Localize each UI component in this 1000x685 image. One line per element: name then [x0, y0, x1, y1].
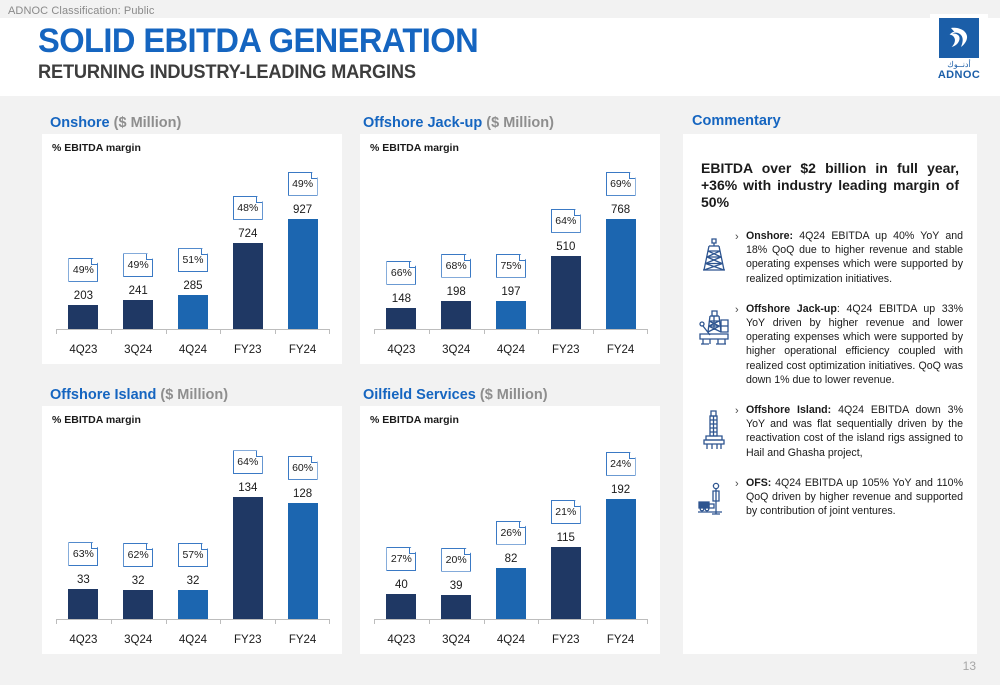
page-number: 13 [963, 659, 976, 673]
callout-fold-corner [311, 457, 317, 463]
ebitda-margin-callout: 49% [68, 258, 98, 282]
x-axis-label-FY23: FY23 [552, 344, 580, 356]
ebitda-margin-callout: 48% [233, 196, 263, 220]
bar-value-label: 128 [293, 488, 312, 500]
chart-column: 11521%FY23 [538, 432, 593, 620]
bar-4Q23[interactable] [386, 594, 416, 619]
adnoc-logo: أدنــوك ADNOC [930, 14, 988, 86]
chart-title-text: Oilfield Services [363, 387, 480, 403]
x-axis-tick [647, 620, 648, 624]
bar-3Q24[interactable] [123, 590, 153, 619]
chart-column: 3257%4Q24 [166, 432, 221, 620]
chart-title-text: Onshore [50, 115, 114, 131]
callout-fold-corner [519, 522, 525, 528]
ebitda-margin-axis-label: % EBITDA margin [52, 142, 141, 154]
x-axis-label-4Q23: 4Q23 [387, 634, 415, 646]
chart-column: 92749%FY24 [275, 160, 330, 330]
x-axis-tick [593, 330, 594, 334]
ebitda-margin-axis-label: % EBITDA margin [52, 414, 141, 426]
chart-column: 4027%4Q23 [374, 432, 429, 620]
x-axis-label-3Q24: 3Q24 [442, 344, 470, 356]
x-axis-tick [647, 330, 648, 334]
bar-4Q23[interactable] [386, 308, 416, 329]
commentary-item: ›Onshore: 4Q24 EBITDA up 40% YoY and 18%… [683, 229, 977, 286]
commentary-item-label: Offshore Island: [746, 404, 831, 416]
bullet-marker: › [735, 302, 744, 318]
ebitda-margin-callout: 60% [288, 456, 318, 480]
falcon-icon [939, 18, 979, 58]
callout-fold-corner [91, 543, 97, 549]
bar-3Q24[interactable] [441, 301, 471, 329]
callout-fold-corner [629, 453, 635, 459]
ebitda-margin-callout: 27% [386, 547, 416, 571]
commentary-item-label: Onshore: [746, 230, 793, 242]
ebitda-margin-callout: 21% [551, 500, 581, 524]
bullet-marker: › [735, 403, 744, 419]
callout-fold-corner [409, 262, 415, 268]
ebitda-margin-callout: 64% [233, 450, 263, 474]
commentary-item: ›Offshore Jack-up: 4Q24 EBITDA up 33% Yo… [683, 302, 977, 387]
x-axis-tick [484, 620, 485, 624]
bar-value-label: 203 [74, 290, 93, 302]
commentary-text: Offshore Island: 4Q24 EBITDA down 3% YoY… [744, 403, 963, 460]
x-axis-tick [166, 620, 167, 624]
classification-label: ADNOC Classification: Public [8, 5, 154, 17]
x-axis-tick [593, 620, 594, 624]
x-axis-tick [374, 330, 375, 334]
x-axis-tick [56, 330, 57, 334]
bar-FY24[interactable] [288, 219, 318, 329]
x-axis-label-FY24: FY24 [607, 344, 635, 356]
bar-3Q24[interactable] [441, 595, 471, 619]
ebitda-margin-callout: 24% [606, 452, 636, 476]
callout-fold-corner [464, 255, 470, 261]
callout-fold-corner [256, 451, 262, 457]
x-axis-tick [56, 620, 57, 624]
x-axis-tick [111, 620, 112, 624]
chart-panel-oilfield-services: % EBITDA margin4027%4Q233920%3Q248226%4Q… [360, 406, 660, 654]
bar-value-label: 192 [611, 484, 630, 496]
chart-title-unit: ($ Million) [480, 387, 548, 403]
commentary-list: ›Onshore: 4Q24 EBITDA up 40% YoY and 18%… [683, 229, 977, 518]
bar-value-label: 33 [77, 574, 90, 586]
ebitda-margin-callout: 49% [288, 172, 318, 196]
bar-value-label: 285 [183, 280, 202, 292]
x-axis-tick [374, 620, 375, 624]
bar-value-label: 768 [611, 204, 630, 216]
chart-panel-offshore-jackup: % EBITDA margin14866%4Q2319868%3Q2419775… [360, 134, 660, 364]
bar-value-label: 510 [556, 241, 575, 253]
chart-panel-onshore: % EBITDA margin20349%4Q2324149%3Q2428551… [42, 134, 342, 364]
ebitda-margin-callout: 64% [551, 209, 581, 233]
logo-arabic-text: أدنــوك [947, 60, 970, 69]
chart-column: 3363%4Q23 [56, 432, 111, 620]
plot-area: 4027%4Q233920%3Q248226%4Q2411521%FY23192… [374, 432, 648, 620]
chart-title-unit: ($ Million) [160, 387, 228, 403]
plot-area: 3363%4Q233262%3Q243257%4Q2413464%FY23128… [56, 432, 330, 620]
commentary-item: ›Offshore Island: 4Q24 EBITDA down 3% Yo… [683, 403, 977, 460]
bar-4Q24[interactable] [178, 590, 208, 619]
chart-panel-offshore-island: % EBITDA margin3363%4Q233262%3Q243257%4Q… [42, 406, 342, 654]
callout-fold-corner [574, 210, 580, 216]
chart-column: 13464%FY23 [220, 432, 275, 620]
workover-unit-icon [693, 476, 735, 516]
plot-area: 14866%4Q2319868%3Q2419775%4Q2451064%FY23… [374, 160, 648, 330]
x-axis-tick [538, 620, 539, 624]
slide-root: ADNOC Classification: Public SOLID EBITD… [0, 0, 1000, 685]
bar-4Q24[interactable] [496, 301, 526, 329]
x-axis-label-3Q24: 3Q24 [124, 634, 152, 646]
ebitda-margin-callout: 63% [68, 542, 98, 566]
page-title: SOLID EBITDA GENERATION [38, 22, 478, 60]
chart-column: 14866%4Q23 [374, 160, 429, 330]
x-axis-tick [484, 330, 485, 334]
commentary-text: Offshore Jack-up: 4Q24 EBITDA up 33% YoY… [744, 302, 963, 387]
callout-fold-corner [256, 197, 262, 203]
bar-value-label: 927 [293, 204, 312, 216]
island-rig-icon [693, 403, 735, 451]
callout-fold-corner [409, 548, 415, 554]
ebitda-margin-callout: 66% [386, 261, 416, 285]
bar-FY23[interactable] [233, 497, 263, 619]
chart-title-text: Offshore Island [50, 387, 160, 403]
ebitda-margin-callout: 49% [123, 253, 153, 277]
x-axis-label-4Q24: 4Q24 [497, 344, 525, 356]
commentary-text: OFS: 4Q24 EBITDA up 105% YoY and 110% Qo… [744, 476, 963, 519]
bar-FY23[interactable] [551, 547, 581, 619]
logo-wordmark: ADNOC [938, 69, 980, 81]
ebitda-margin-callout: 26% [496, 521, 526, 545]
bar-value-label: 241 [129, 285, 148, 297]
chart-title-offshore-jackup: Offshore Jack-up ($ Million) [363, 115, 554, 131]
chart-title-offshore-island: Offshore Island ($ Million) [50, 387, 228, 403]
bar-value-label: 32 [132, 575, 145, 587]
bar-value-label: 40 [395, 579, 408, 591]
ebitda-margin-callout: 68% [441, 254, 471, 278]
x-axis-label-FY24: FY24 [289, 634, 317, 646]
callout-fold-corner [146, 544, 152, 550]
bar-value-label: 32 [187, 575, 200, 587]
bar-value-label: 197 [501, 286, 520, 298]
bar-value-label: 724 [238, 228, 257, 240]
x-axis-label-FY24: FY24 [607, 634, 635, 646]
page-subtitle: RETURNING INDUSTRY-LEADING MARGINS [38, 62, 416, 84]
callout-fold-corner [91, 259, 97, 265]
chart-column: 24149%3Q24 [111, 160, 166, 330]
bar-value-label: 148 [392, 293, 411, 305]
x-axis-tick [220, 330, 221, 334]
chart-title-text: Offshore Jack-up [363, 115, 486, 131]
x-axis-tick [538, 330, 539, 334]
bar-3Q24[interactable] [123, 300, 153, 329]
jackup-rig-icon [693, 302, 735, 348]
ebitda-margin-axis-label: % EBITDA margin [370, 142, 459, 154]
chart-column: 20349%4Q23 [56, 160, 111, 330]
drilling-rig-icon [693, 229, 735, 275]
x-axis-label-3Q24: 3Q24 [442, 634, 470, 646]
x-axis-label-4Q23: 4Q23 [69, 634, 97, 646]
x-axis-label-FY24: FY24 [289, 344, 317, 356]
chart-column: 51064%FY23 [538, 160, 593, 330]
ebitda-margin-callout: 62% [123, 543, 153, 567]
chart-column: 19868%3Q24 [429, 160, 484, 330]
x-axis-label-4Q24: 4Q24 [179, 344, 207, 356]
bar-value-label: 82 [505, 553, 518, 565]
callout-fold-corner [464, 549, 470, 555]
bar-FY23[interactable] [233, 243, 263, 329]
bullet-marker: › [735, 229, 744, 245]
bar-4Q24[interactable] [178, 295, 208, 329]
x-axis-label-FY23: FY23 [552, 634, 580, 646]
x-axis-tick [429, 330, 430, 334]
chart-column: 12860%FY24 [275, 432, 330, 620]
x-axis-tick [429, 620, 430, 624]
callout-fold-corner [201, 249, 207, 255]
ebitda-margin-callout: 51% [178, 248, 208, 272]
x-axis-tick [166, 330, 167, 334]
chart-title-unit: ($ Million) [486, 115, 554, 131]
bar-FY23[interactable] [551, 256, 581, 329]
bar-FY24[interactable] [288, 503, 318, 619]
bar-4Q23[interactable] [68, 305, 98, 329]
bullet-marker: › [735, 476, 744, 492]
x-axis-tick [329, 330, 330, 334]
x-axis-tick [275, 620, 276, 624]
bar-value-label: 39 [450, 580, 463, 592]
commentary-item-label: OFS: [746, 477, 771, 489]
chart-column: 19224%FY24 [593, 432, 648, 620]
callout-fold-corner [519, 255, 525, 261]
commentary-title: Commentary [692, 113, 781, 129]
chart-column: 3262%3Q24 [111, 432, 166, 620]
chart-column: 19775%4Q24 [484, 160, 539, 330]
chart-column: 72448%FY23 [220, 160, 275, 330]
ebitda-margin-axis-label: % EBITDA margin [370, 414, 459, 426]
commentary-text: Onshore: 4Q24 EBITDA up 40% YoY and 18% … [744, 229, 963, 286]
chart-column: 28551%4Q24 [166, 160, 221, 330]
x-axis-tick [111, 330, 112, 334]
bar-value-label: 115 [557, 532, 575, 544]
commentary-item: ›OFS: 4Q24 EBITDA up 105% YoY and 110% Q… [683, 476, 977, 519]
callout-fold-corner [574, 501, 580, 507]
x-axis-label-3Q24: 3Q24 [124, 344, 152, 356]
chart-title-onshore: Onshore ($ Million) [50, 115, 181, 131]
chart-column: 3920%3Q24 [429, 432, 484, 620]
bar-4Q23[interactable] [68, 589, 98, 619]
x-axis-label-FY23: FY23 [234, 344, 262, 356]
x-axis-label-FY23: FY23 [234, 634, 262, 646]
commentary-item-label: Offshore Jack-up [746, 303, 837, 315]
ebitda-margin-callout: 57% [178, 543, 208, 567]
bar-FY24[interactable] [606, 499, 636, 619]
callout-fold-corner [146, 254, 152, 260]
callout-fold-corner [201, 544, 207, 550]
callout-fold-corner [629, 173, 635, 179]
x-axis-tick [275, 330, 276, 334]
bar-FY24[interactable] [606, 219, 636, 329]
ebitda-margin-callout: 75% [496, 254, 526, 278]
x-axis-label-4Q23: 4Q23 [69, 344, 97, 356]
ebitda-margin-callout: 69% [606, 172, 636, 196]
commentary-headline: EBITDA over $2 billion in full year, +36… [701, 134, 959, 211]
x-axis-tick [220, 620, 221, 624]
x-axis-label-4Q24: 4Q24 [497, 634, 525, 646]
bar-4Q24[interactable] [496, 568, 526, 619]
chart-column: 8226%4Q24 [484, 432, 539, 620]
chart-column: 76869%FY24 [593, 160, 648, 330]
plot-area: 20349%4Q2324149%3Q2428551%4Q2472448%FY23… [56, 160, 330, 330]
x-axis-tick [329, 620, 330, 624]
commentary-panel: EBITDA over $2 billion in full year, +36… [683, 134, 977, 654]
x-axis-label-4Q23: 4Q23 [387, 344, 415, 356]
bar-value-label: 198 [447, 286, 466, 298]
bar-value-label: 134 [238, 482, 257, 494]
x-axis-label-4Q24: 4Q24 [179, 634, 207, 646]
chart-title-unit: ($ Million) [114, 115, 182, 131]
callout-fold-corner [311, 173, 317, 179]
ebitda-margin-callout: 20% [441, 548, 471, 572]
chart-title-oilfield-services: Oilfield Services ($ Million) [363, 387, 548, 403]
